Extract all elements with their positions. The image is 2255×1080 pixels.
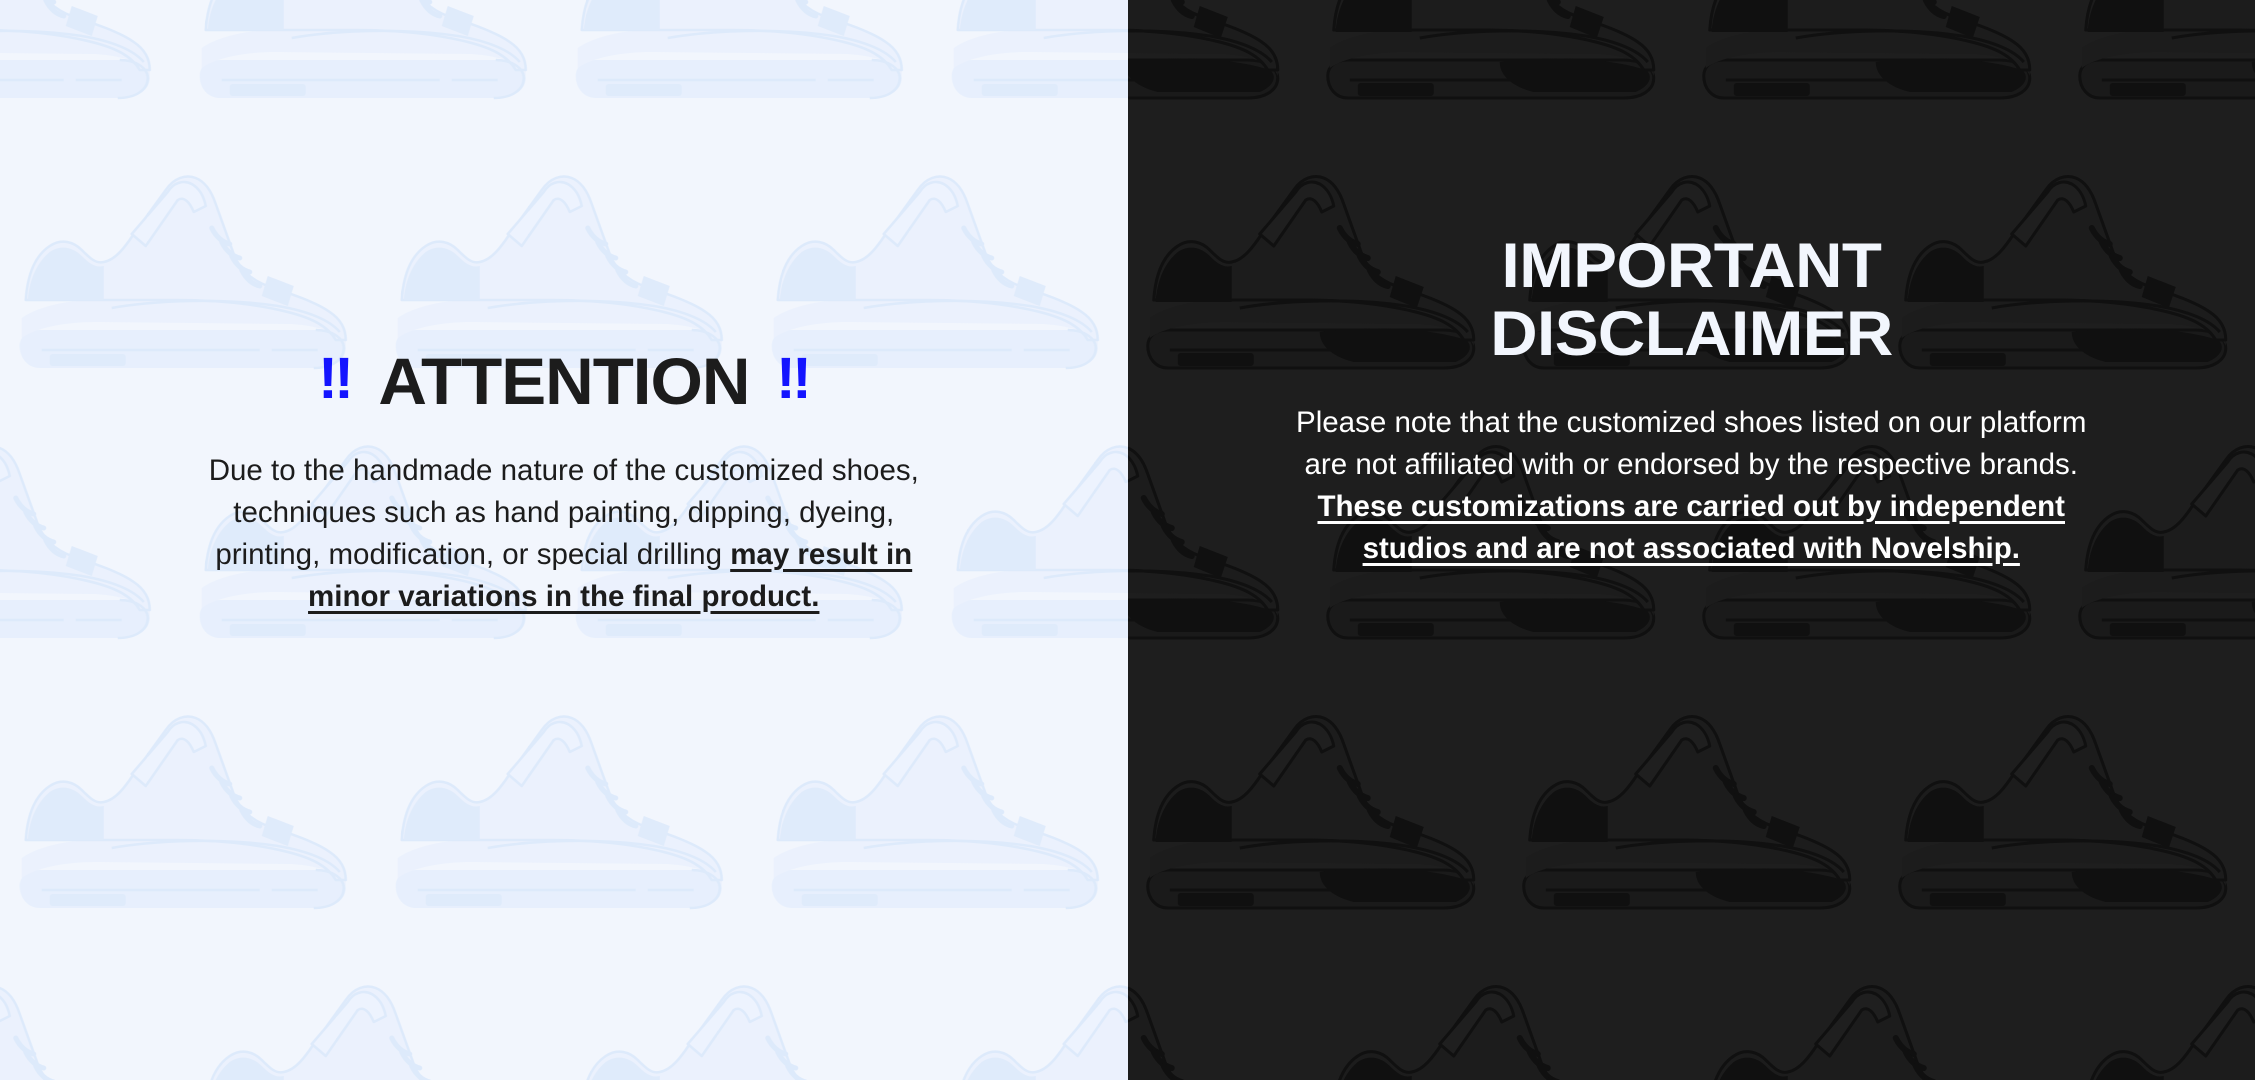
- disclaimer-heading: IMPORTANT DISCLAIMER: [1490, 232, 1892, 368]
- disclaimer-panel: IMPORTANT DISCLAIMER Please note that th…: [1128, 0, 2255, 1080]
- disclaimer-content: IMPORTANT DISCLAIMER Please note that th…: [1128, 0, 2255, 570]
- disclaimer-heading-line1: IMPORTANT: [1490, 232, 1892, 300]
- double-exclamation-left-icon: ‼: [318, 350, 352, 408]
- attention-body: Due to the handmade nature of the custom…: [184, 450, 944, 618]
- disclaimer-body: Please note that the customized shoes li…: [1291, 402, 2091, 570]
- disclaimer-body-emphasis: These customizations are carried out by …: [1318, 490, 2066, 565]
- attention-panel: ‼ ATTENTION ‼ Due to the handmade nature…: [0, 0, 1128, 1080]
- double-exclamation-right-icon: ‼: [776, 350, 810, 408]
- dual-panel-banner: ‼ ATTENTION ‼ Due to the handmade nature…: [0, 0, 2255, 1080]
- attention-heading-word: ATTENTION: [378, 348, 749, 414]
- disclaimer-heading-line2: DISCLAIMER: [1490, 300, 1892, 368]
- disclaimer-body-normal: Please note that the customized shoes li…: [1296, 406, 2086, 481]
- attention-content: ‼ ATTENTION ‼ Due to the handmade nature…: [0, 0, 1128, 618]
- attention-heading: ‼ ATTENTION ‼: [318, 348, 809, 414]
